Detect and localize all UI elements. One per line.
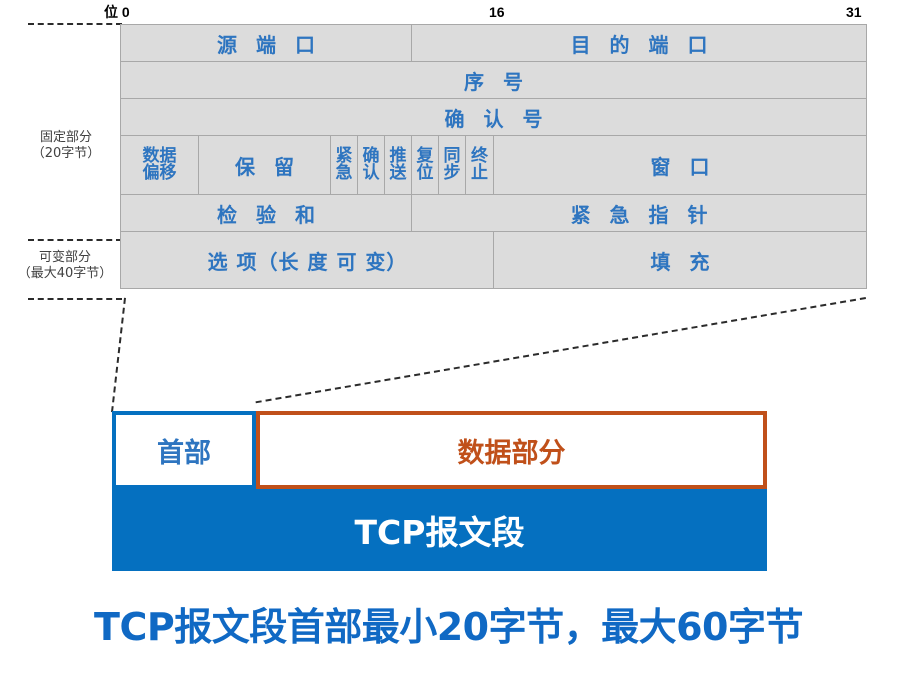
tcp-header-table: 源 端 口 目 的 端 口 序 号 确 认 号 数据 偏移 保 留 紧 急 确 … (120, 24, 867, 289)
cell-flag-syn: 同 步 (439, 136, 466, 195)
cell-flag-rst-line2: 位 (412, 165, 438, 182)
cell-checksum: 检 验 和 (121, 195, 412, 232)
guide-line-bottom (28, 298, 122, 300)
cell-flag-urg: 紧 急 (331, 136, 358, 195)
segment-data-box: 数据部分 (256, 411, 767, 489)
cell-flag-psh: 推 送 (385, 136, 412, 195)
table-row-checksum: 检 验 和 紧 急 指 针 (121, 195, 867, 232)
bottom-title: TCP报文段首部最小20字节，最大60字节 (0, 596, 897, 651)
label-variable-part-line1: 可变部分 (6, 250, 124, 266)
bit-label-16: 16 (489, 4, 505, 20)
connector-line-right (256, 297, 866, 403)
table-row-flags: 数据 偏移 保 留 紧 急 确 认 推 送 复 位 同 步 终 止 窗 口 (121, 136, 867, 195)
tcp-segment-diagram: 首部 数据部分 TCP报文段 (112, 411, 767, 571)
label-fixed-part-line2: （20字节） (12, 146, 120, 162)
cell-padding: 填 充 (494, 232, 867, 289)
cell-flag-fin: 终 止 (466, 136, 494, 195)
cell-reserved: 保 留 (199, 136, 331, 195)
cell-acknowledgement-number: 确 认 号 (121, 99, 867, 136)
cell-flag-ack: 确 认 (358, 136, 385, 195)
cell-flag-psh-line2: 送 (385, 165, 411, 182)
cell-flag-ack-line2: 认 (358, 165, 384, 182)
table-row-options: 选 项（长 度 可 变） 填 充 (121, 232, 867, 289)
label-variable-part-line2: （最大40字节） (6, 266, 124, 282)
cell-options: 选 项（长 度 可 变） (121, 232, 494, 289)
cell-flag-urg-line2: 急 (331, 165, 357, 182)
segment-caption: TCP报文段 (112, 489, 767, 571)
segment-caption-label: TCP报文段 (355, 506, 525, 554)
cell-urgent-pointer: 紧 急 指 针 (412, 195, 867, 232)
cell-flag-rst: 复 位 (412, 136, 439, 195)
connector-line-left (111, 298, 126, 412)
label-fixed-part-line1: 固定部分 (12, 130, 120, 146)
segment-data-label: 数据部分 (458, 431, 566, 470)
cell-flag-syn-line2: 步 (439, 165, 465, 182)
segment-header-label: 首部 (157, 431, 211, 470)
cell-window: 窗 口 (494, 136, 867, 195)
table-row-ack: 确 认 号 (121, 99, 867, 136)
cell-source-port: 源 端 口 (121, 25, 412, 62)
label-variable-part: 可变部分 （最大40字节） (6, 250, 124, 283)
cell-sequence-number: 序 号 (121, 62, 867, 99)
guide-line-top (28, 23, 122, 25)
bit-label-0: 位 0 (104, 4, 130, 20)
cell-flag-fin-line2: 止 (466, 165, 493, 182)
cell-data-offset-line2: 偏移 (121, 165, 198, 182)
segment-header-box: 首部 (112, 411, 256, 489)
label-fixed-part: 固定部分 （20字节） (12, 130, 120, 163)
guide-line-middle (28, 239, 122, 241)
cell-destination-port: 目 的 端 口 (412, 25, 867, 62)
bit-ruler: 位 0 16 31 (0, 4, 897, 24)
table-row-sequence: 序 号 (121, 62, 867, 99)
cell-data-offset: 数据 偏移 (121, 136, 199, 195)
table-row-ports: 源 端 口 目 的 端 口 (121, 25, 867, 62)
bit-label-31: 31 (846, 4, 862, 20)
